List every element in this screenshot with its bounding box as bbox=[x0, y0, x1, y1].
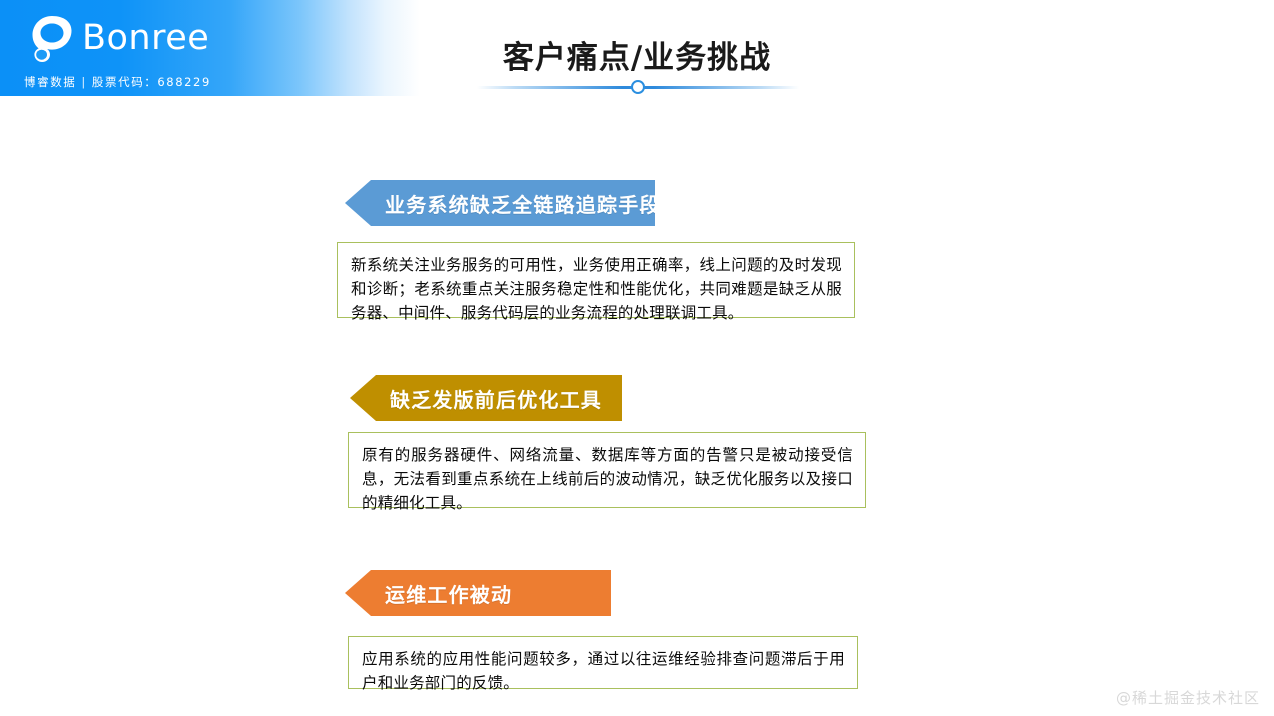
section-banner-3: 运维工作被动 bbox=[345, 570, 611, 616]
divider-dot-icon bbox=[631, 80, 645, 94]
pain-point-section-2: 缺乏发版前后优化工具 bbox=[350, 375, 622, 421]
section-banner-1: 业务系统缺乏全链路追踪手段 bbox=[345, 180, 655, 226]
section-banner-label-2: 缺乏发版前后优化工具 bbox=[390, 384, 602, 413]
brand-sub-right: 股票代码：688229 bbox=[92, 75, 211, 89]
pain-point-section-1: 业务系统缺乏全链路追踪手段 bbox=[345, 180, 655, 226]
section-banner-label-3: 运维工作被动 bbox=[385, 579, 512, 608]
section-banner-2: 缺乏发版前后优化工具 bbox=[350, 375, 622, 421]
section-textbox-1: 新系统关注业务服务的可用性，业务使用正确率，线上问题的及时发现和诊断；老系统重点… bbox=[337, 242, 855, 318]
brand-sub-divider: | bbox=[76, 75, 91, 89]
pain-point-section-3: 运维工作被动 bbox=[345, 570, 611, 616]
section-body-1: 新系统关注业务服务的可用性，业务使用正确率，线上问题的及时发现和诊断；老系统重点… bbox=[351, 253, 842, 325]
watermark: @稀土掘金技术社区 bbox=[1116, 687, 1260, 708]
page-title: 客户痛点/业务挑战 bbox=[0, 32, 1274, 77]
section-textbox-3: 应用系统的应用性能问题较多，通过以往运维经验排查问题滞后于用户和业务部门的反馈。 bbox=[348, 636, 858, 689]
section-textbox-2: 原有的服务器硬件、网络流量、数据库等方面的告警只是被动接受信息，无法看到重点系统… bbox=[348, 432, 866, 508]
section-body-3: 应用系统的应用性能问题较多，通过以往运维经验排查问题滞后于用户和业务部门的反馈。 bbox=[362, 647, 845, 695]
section-banner-label-1: 业务系统缺乏全链路追踪手段 bbox=[385, 189, 661, 218]
section-body-2: 原有的服务器硬件、网络流量、数据库等方面的告警只是被动接受信息，无法看到重点系统… bbox=[362, 443, 853, 515]
brand-sub-left: 博睿数据 bbox=[24, 75, 76, 89]
